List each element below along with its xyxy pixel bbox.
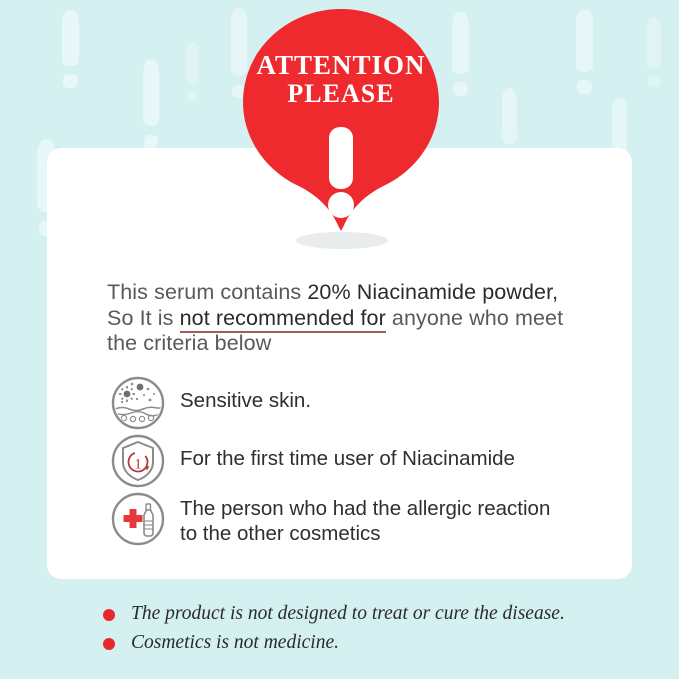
exclamation-bar <box>452 12 469 74</box>
intro-paragraph: This serum contains 20% Niacinamide powd… <box>107 280 607 357</box>
exclamation-dot <box>144 135 158 148</box>
exclamation-bar <box>647 18 661 68</box>
footnote-list: The product is not designed to treat or … <box>103 602 623 660</box>
criteria-list: Sensitive skin. 1 For the first time use… <box>110 375 610 549</box>
list-item: 1 For the first time user of Niacinamide <box>110 433 610 489</box>
exclamation-dot <box>453 82 468 96</box>
exclamation-dot <box>577 80 592 94</box>
footnote-text: The product is not designed to treat or … <box>131 602 565 626</box>
exclamation-bar <box>186 42 199 84</box>
list-item: Sensitive skin. <box>110 375 610 431</box>
list-item-label: The person who had the allergic reaction… <box>180 491 550 546</box>
red-dot-bullet <box>103 609 115 621</box>
intro-part-2: So It is <box>107 306 180 330</box>
exclamation-mark-decor <box>576 10 593 94</box>
exclamation-mark-decor <box>143 60 159 148</box>
intro-highlight: 20% Niacinamide powder, <box>307 280 558 304</box>
title-line-1: ATTENTION <box>243 52 439 80</box>
intro-part-1: This serum contains <box>107 280 307 304</box>
svg-text:1: 1 <box>134 457 142 473</box>
pin-shadow <box>296 232 388 249</box>
list-item-label: For the first time user of Niacinamide <box>180 433 515 471</box>
intro-part-4: the criteria below <box>107 331 271 355</box>
exclamation-mark-decor <box>186 42 199 101</box>
red-dot-bullet <box>103 638 115 650</box>
exclamation-bar <box>62 10 79 66</box>
list-item: Cosmetics is not medicine. <box>103 631 623 655</box>
exclamation-dot <box>648 76 660 87</box>
list-item-label-line-2: to the other cosmetics <box>180 522 381 545</box>
footnote-text: Cosmetics is not medicine. <box>131 631 339 655</box>
exclamation-dot <box>187 91 198 101</box>
intro-emphasis: not recommended for <box>180 306 386 333</box>
sensitive-skin-icon <box>110 375 166 431</box>
list-item: The product is not designed to treat or … <box>103 602 623 626</box>
exclamation-mark-decor <box>647 18 661 87</box>
attention-poster: ATTENTION PLEASE This serum contains 20%… <box>0 0 679 679</box>
exclamation-dot <box>63 74 78 88</box>
page-title: ATTENTION PLEASE <box>243 52 439 107</box>
map-pin-exclamation-icon <box>243 9 439 231</box>
exclamation-bar <box>576 10 593 72</box>
list-item-label-line-1: The person who had the allergic reaction <box>180 497 550 520</box>
exclamation-bar <box>143 60 159 126</box>
exclamation-mark-decor <box>452 12 469 96</box>
title-line-2: PLEASE <box>243 81 439 108</box>
intro-part-3: anyone who meet <box>386 306 563 330</box>
list-item: The person who had the allergic reaction… <box>110 491 610 547</box>
exclamation-mark-decor <box>62 10 79 88</box>
exclamation-bar <box>502 88 517 144</box>
allergy-cosmetics-icon <box>110 491 166 547</box>
shield-first-time-icon: 1 <box>110 433 166 489</box>
list-item-label: Sensitive skin. <box>180 375 311 413</box>
